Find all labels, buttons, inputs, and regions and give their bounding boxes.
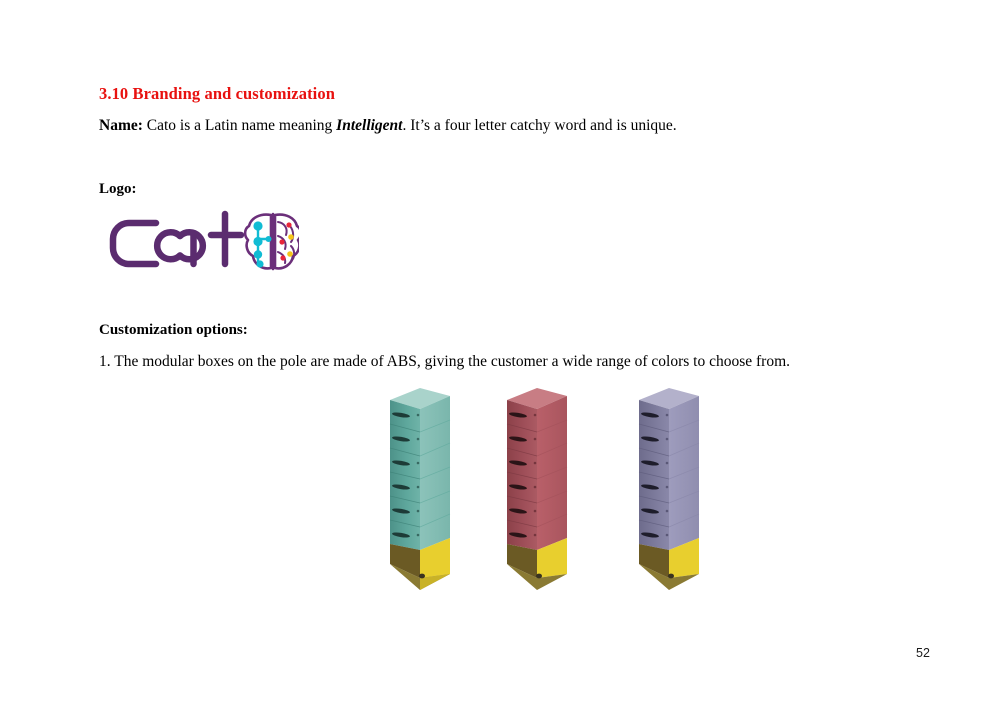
product-render-figure bbox=[350, 378, 695, 603]
brand-logo bbox=[104, 206, 299, 278]
customization-options-label: Customization options: bbox=[99, 322, 248, 339]
logo-wordmark bbox=[113, 214, 241, 264]
section-heading: 3.10 Branding and customization bbox=[99, 84, 335, 104]
page-number: 52 bbox=[916, 646, 930, 660]
name-text-after: . It’s a four letter catchy word and is … bbox=[403, 117, 677, 134]
product-render-purple-tower bbox=[617, 378, 727, 603]
name-paragraph: Name: Cato is a Latin name meaning Intel… bbox=[99, 117, 677, 135]
product-render-red-tower bbox=[485, 378, 595, 603]
customization-option-1: 1. The modular boxes on the pole are mad… bbox=[99, 353, 790, 371]
name-emphasis: Intelligent bbox=[336, 117, 402, 134]
logo-label: Logo: bbox=[99, 181, 137, 198]
brain-circuit-icon bbox=[245, 214, 299, 269]
name-label: Name: bbox=[99, 117, 143, 134]
document-page: 3.10 Branding and customization Name: Ca… bbox=[0, 0, 1000, 707]
name-text-before: Cato is a Latin name meaning bbox=[143, 117, 336, 134]
product-render-teal-tower bbox=[368, 378, 478, 603]
